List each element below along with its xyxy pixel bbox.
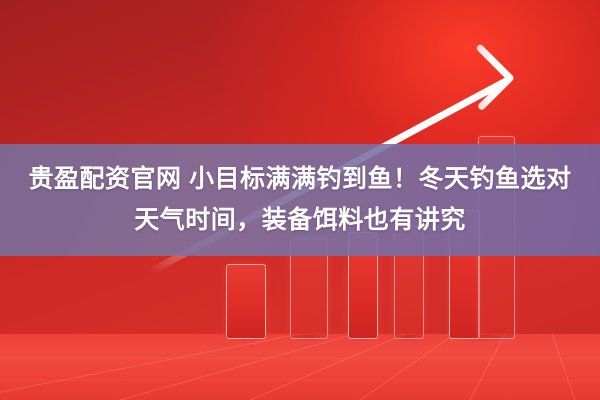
caption-line-1: 贵盈配资官网 小目标满满钓到鱼！冬天钓鱼选对 xyxy=(29,159,572,200)
banner-image: 贵盈配资官网 小目标满满钓到鱼！冬天钓鱼选对 天气时间，装备饵料也有讲究 xyxy=(0,0,600,400)
caption-line-2: 天气时间，装备饵料也有讲究 xyxy=(134,200,466,241)
caption-band: 贵盈配资官网 小目标满满钓到鱼！冬天钓鱼选对 天气时间，装备饵料也有讲究 xyxy=(0,144,600,256)
